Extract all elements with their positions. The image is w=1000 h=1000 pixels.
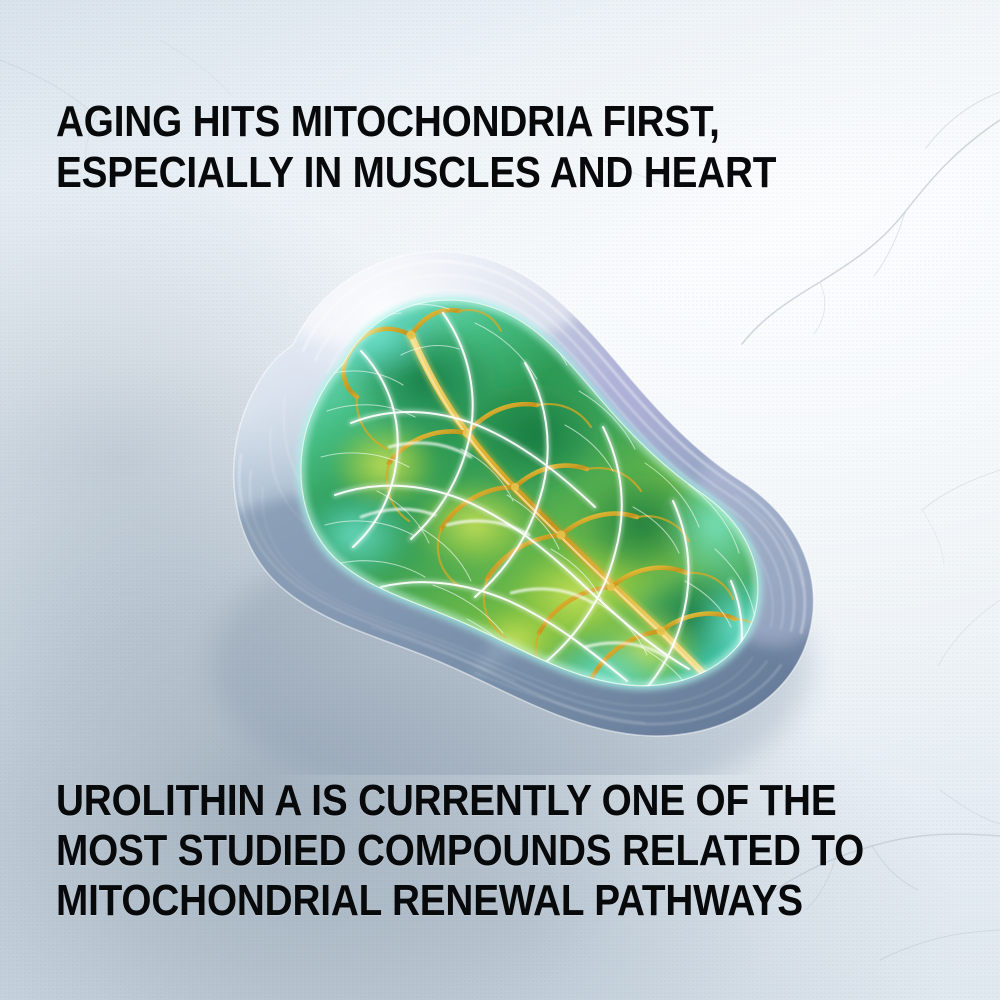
subline-line-1: UROLITHIN A IS CURRENTLY ONE OF THE	[56, 776, 864, 826]
headline-text-block: AGING HITS MITOCHONDRIA FIRST, ESPECIALL…	[56, 96, 875, 198]
subline-text-block: UROLITHIN A IS CURRENTLY ONE OF THE MOST…	[56, 776, 974, 926]
poster-canvas: AGING HITS MITOCHONDRIA FIRST, ESPECIALL…	[0, 0, 1000, 1000]
subline-line-3: MITOCHONDRIAL RENEWAL PATHWAYS	[56, 876, 864, 926]
subline-line-2: MOST STUDIED COMPOUNDS RELATED TO	[56, 826, 864, 876]
headline-line-2: ESPECIALLY IN MUSCLES AND HEART	[56, 147, 776, 198]
mitochondrion-illustration	[175, 195, 835, 775]
headline-line-1: AGING HITS MITOCHONDRIA FIRST,	[56, 96, 776, 147]
